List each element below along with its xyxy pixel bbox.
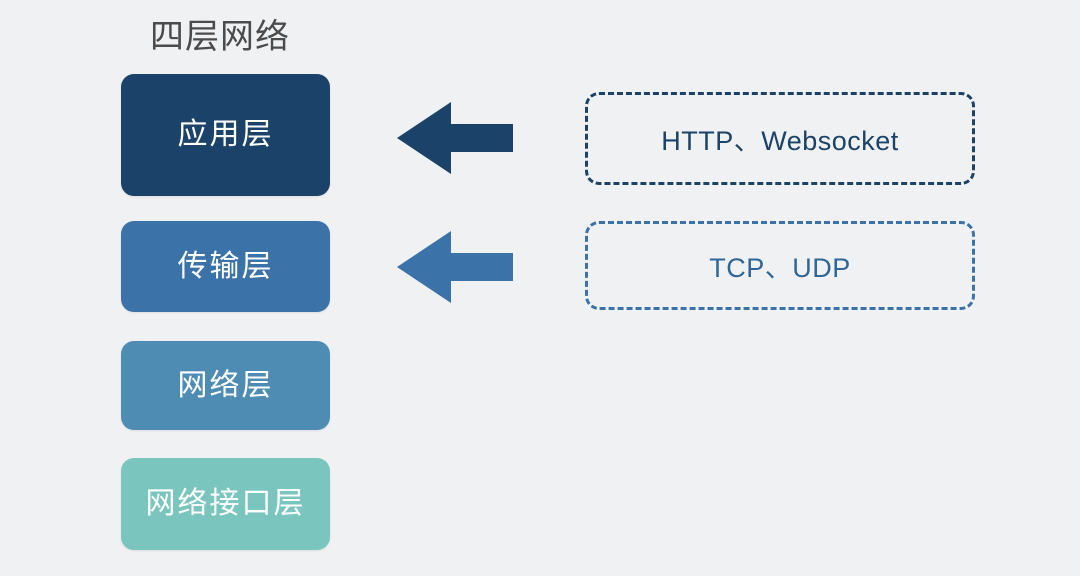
protocol-label-transport: TCP、UDP [709,246,851,285]
protocol-box-transport[interactable]: TCP、UDP [585,221,975,310]
protocol-box-application[interactable]: HTTP、Websocket [585,92,975,185]
layer-box-transport[interactable]: 传输层 [121,221,330,312]
layer-label-network-interface: 网络接口层 [146,489,306,519]
layer-label-application: 应用层 [178,120,274,150]
layer-box-network[interactable]: 网络层 [121,341,330,430]
layer-box-network-interface[interactable]: 网络接口层 [121,458,330,550]
page-title: 四层网络 [150,16,290,58]
layer-label-network: 网络层 [178,371,274,401]
protocol-label-application: HTTP、Websocket [661,119,899,158]
layer-box-application[interactable]: 应用层 [121,74,330,196]
diagram-canvas: 四层网络 应用层 传输层 网络层 网络接口层 HTTP、Websocket TC… [0,0,1080,576]
layer-label-transport: 传输层 [178,252,274,282]
left-arrow-icon-application [397,102,513,174]
left-arrow-icon-transport [397,231,513,303]
layer-stack: 应用层 传输层 网络层 网络接口层 [121,74,330,550]
